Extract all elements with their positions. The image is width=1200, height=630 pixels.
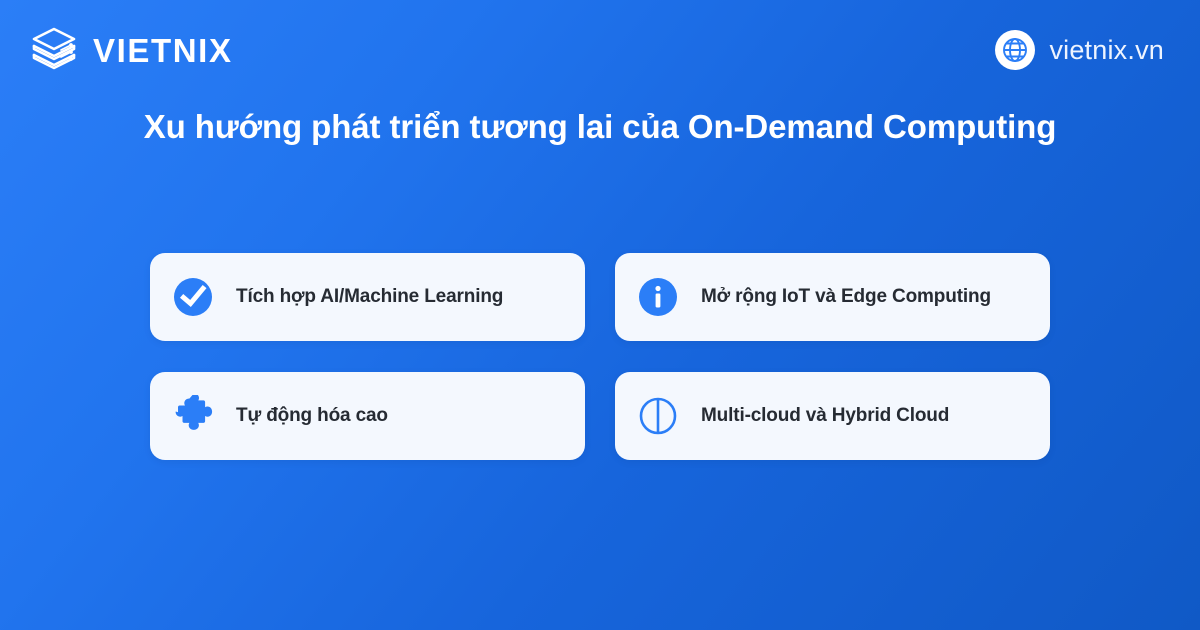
puzzle-piece-icon (172, 395, 214, 437)
site-url-text: vietnix.vn (1049, 37, 1164, 64)
feature-card-grid: Tích hợp AI/Machine Learning Mở rộng IoT… (150, 253, 1050, 460)
feature-card-iot-edge[interactable]: Mở rộng IoT và Edge Computing (615, 253, 1050, 341)
poster-canvas: VIETNIX vietnix.vn Xu hướng phát triển t… (0, 0, 1200, 630)
globe-icon (995, 30, 1035, 70)
site-link[interactable]: vietnix.vn (995, 30, 1164, 70)
page-title: Xu hướng phát triển tương lai của On-Dem… (0, 106, 1200, 147)
feature-card-label: Tự động hóa cao (236, 405, 388, 428)
feature-card-ai-ml[interactable]: Tích hợp AI/Machine Learning (150, 253, 585, 341)
info-circle-icon (637, 276, 679, 318)
feature-card-multicloud[interactable]: Multi-cloud và Hybrid Cloud (615, 372, 1050, 460)
brand-wordmark: VIETNIX (93, 34, 233, 67)
feature-card-label: Multi-cloud và Hybrid Cloud (701, 405, 949, 428)
feature-card-label: Tích hợp AI/Machine Learning (236, 286, 503, 309)
feature-card-label: Mở rộng IoT và Edge Computing (701, 286, 991, 309)
feature-card-automation[interactable]: Tự động hóa cao (150, 372, 585, 460)
stacked-layers-icon (28, 24, 80, 76)
contrast-circle-icon (637, 395, 679, 437)
brand-lockup[interactable]: VIETNIX (28, 24, 233, 76)
check-circle-icon (172, 276, 214, 318)
header-bar: VIETNIX vietnix.vn (0, 0, 1200, 100)
